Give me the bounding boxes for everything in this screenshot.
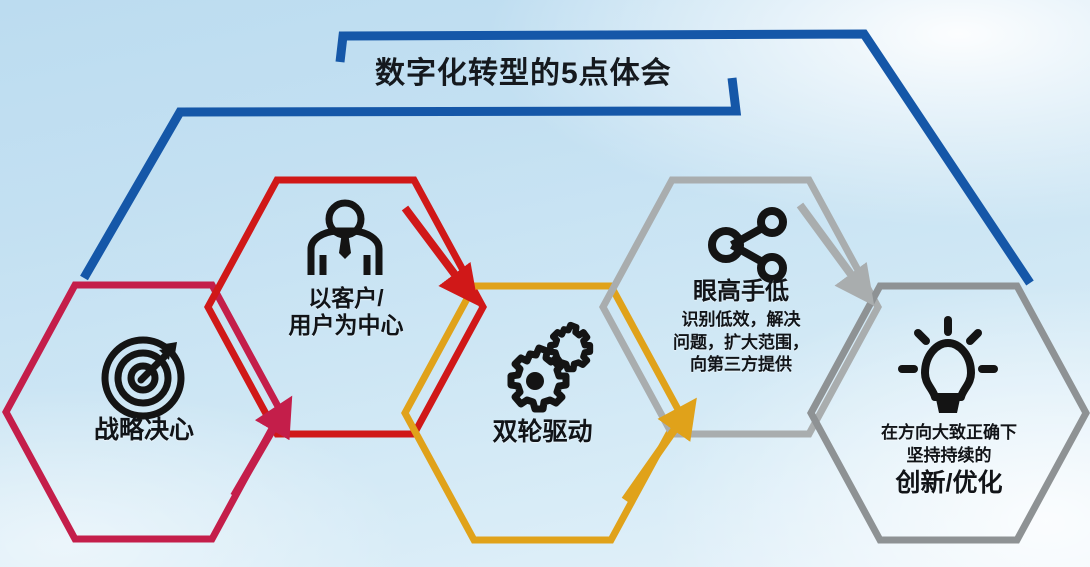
target-dartboard-icon <box>105 340 181 416</box>
businessman-person-icon <box>311 203 379 275</box>
hexagon-step-2[interactable] <box>208 180 483 434</box>
infographic-slide: 数字化转型的5点体会 战略决心 以客户/ 用户为中心 双轮驱动 眼高手低 识别低… <box>0 0 1090 567</box>
hexagon-step-3[interactable] <box>405 286 680 540</box>
arrow-step1-to-step2 <box>234 415 281 496</box>
lightbulb-idea-icon <box>902 320 994 413</box>
share-network-icon <box>712 211 783 279</box>
arrow-step3-to-step4 <box>625 416 684 500</box>
hexagon-step-1[interactable] <box>6 285 281 539</box>
banner-title: 数字化转型的5点体会 <box>375 48 672 92</box>
gears-cogs-icon <box>511 325 590 409</box>
hexagon-step-4[interactable] <box>603 180 878 434</box>
